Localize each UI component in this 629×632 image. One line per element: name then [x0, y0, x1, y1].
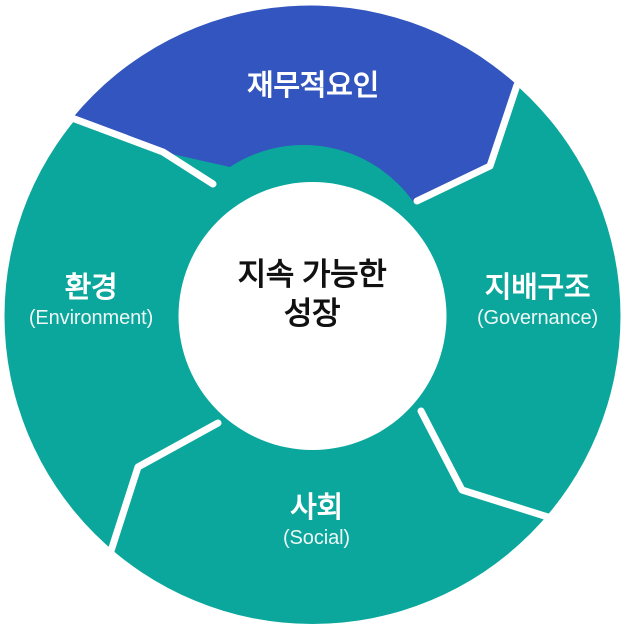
- segment-label-social-en: (Social): [234, 527, 399, 549]
- segment-label-environment-ko: 환경: [0, 272, 182, 304]
- segment-label-financial[interactable]: 재무적요인: [168, 70, 458, 102]
- segment-label-governance-ko: 지배구조: [446, 272, 629, 304]
- segment-label-social-ko: 사회: [234, 492, 399, 524]
- segment-label-governance-en: (Governance): [446, 307, 629, 329]
- segment-label-environment[interactable]: 환경 (Environment): [0, 272, 182, 330]
- segment-label-social[interactable]: 사회 (Social): [234, 492, 399, 550]
- center-label: 지속 가능한 성장: [178, 258, 446, 331]
- esg-diagram: 지속 가능한 성장 재무적요인 환경 (Environment) 사회 (Soc…: [0, 0, 629, 632]
- center-label-line1: 지속 가능한: [238, 257, 387, 292]
- center-label-line2: 성장: [178, 297, 446, 332]
- segment-label-financial-ko: 재무적요인: [168, 70, 458, 102]
- segment-label-governance[interactable]: 지배구조 (Governance): [446, 272, 629, 330]
- segment-label-environment-en: (Environment): [0, 307, 182, 329]
